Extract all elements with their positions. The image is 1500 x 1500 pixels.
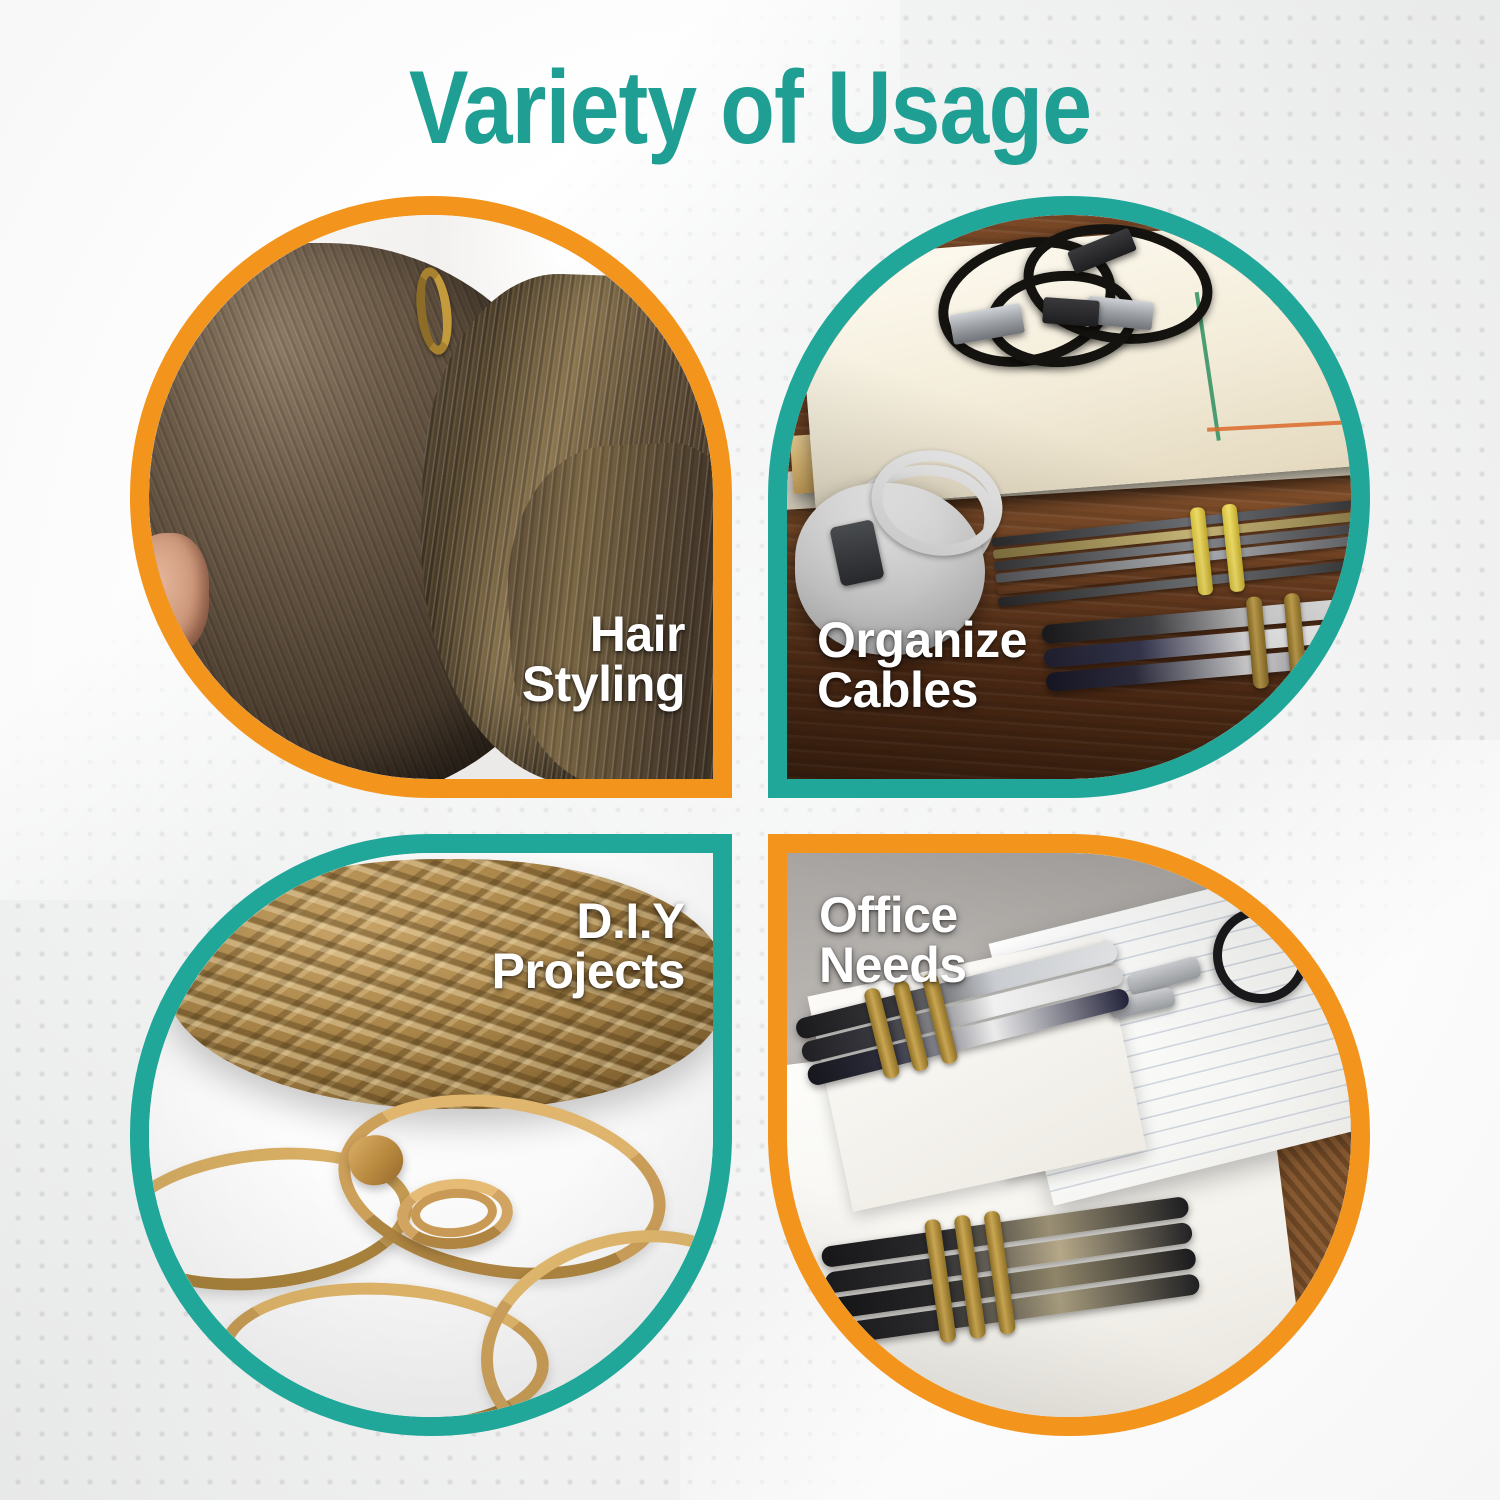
petal-diy-projects[interactable]: D.I.Y Projects — [130, 834, 732, 1436]
petal-organize-cables[interactable]: Organize Cables — [768, 196, 1370, 798]
infographic-canvas: Variety of Usage Hair Styling — [0, 0, 1500, 1500]
petal-hair-styling[interactable]: Hair Styling — [130, 196, 732, 798]
petal-grid: Hair Styling — [130, 196, 1370, 1436]
page-title: Variety of Usage — [105, 54, 1395, 163]
petal-office-needs[interactable]: Office Needs — [768, 834, 1370, 1436]
petal-label-organize-cables: Organize Cables — [817, 616, 1027, 715]
petal-label-hair-styling: Hair Styling — [522, 610, 685, 709]
petal-label-office-needs: Office Needs — [819, 891, 967, 990]
petal-label-diy-projects: D.I.Y Projects — [492, 897, 685, 996]
